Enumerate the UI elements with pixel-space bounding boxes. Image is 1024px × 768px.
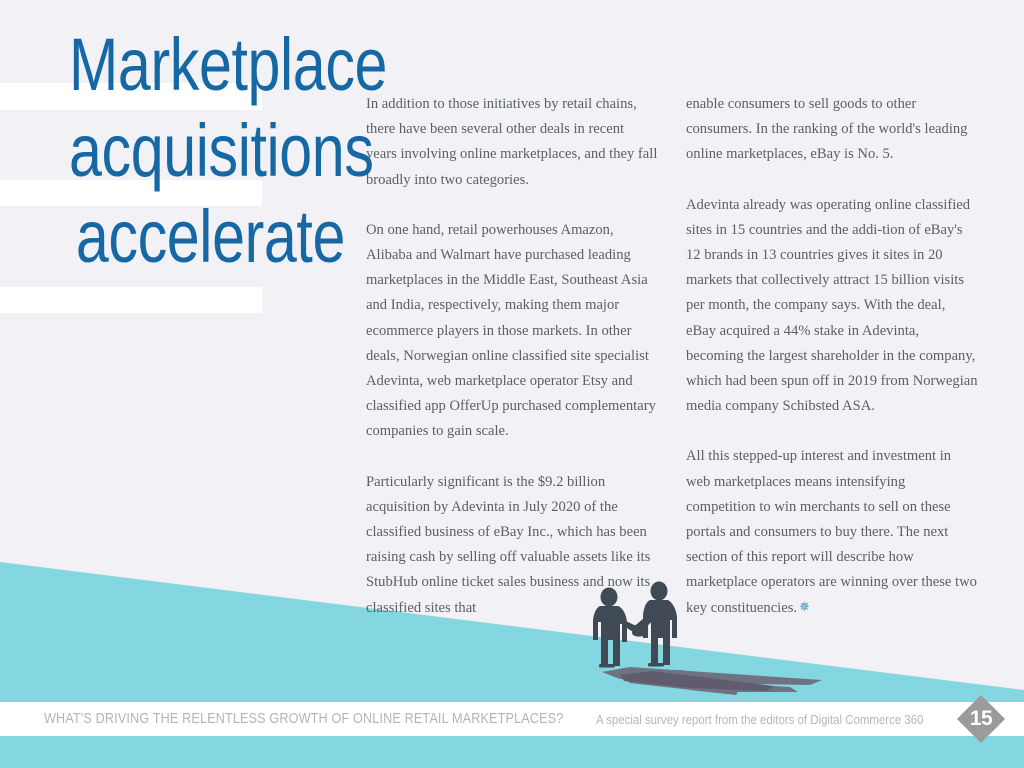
paragraph: enable consumers to sell goods to other …: [686, 92, 978, 168]
page-number-badge: 15: [957, 695, 1005, 743]
footer-subtitle: A special survey report from the editors…: [596, 712, 923, 727]
paragraph: In addition to those initiatives by reta…: [366, 92, 658, 193]
page-title-line-1: Marketplace: [69, 22, 345, 108]
body-column-right: enable consumers to sell goods to other …: [686, 92, 978, 646]
handshake-silhouette-icon: [560, 568, 830, 700]
page-title-line-2: acquisitions: [69, 108, 345, 194]
body-column-left: In addition to those initiatives by reta…: [366, 92, 658, 646]
footer-report-title: WHAT'S DRIVING THE RELENTLESS GROWTH OF …: [44, 710, 563, 727]
document-page: Marketplace acquisitions accelerate In a…: [0, 0, 1024, 768]
paragraph: Adevinta already was operating online cl…: [686, 193, 978, 420]
page-title-line-3: accelerate: [69, 194, 345, 280]
paragraph: On one hand, retail powerhouses Amazon, …: [366, 218, 658, 445]
page-title: Marketplace acquisitions accelerate: [69, 22, 345, 280]
page-number: 15: [957, 695, 1005, 743]
